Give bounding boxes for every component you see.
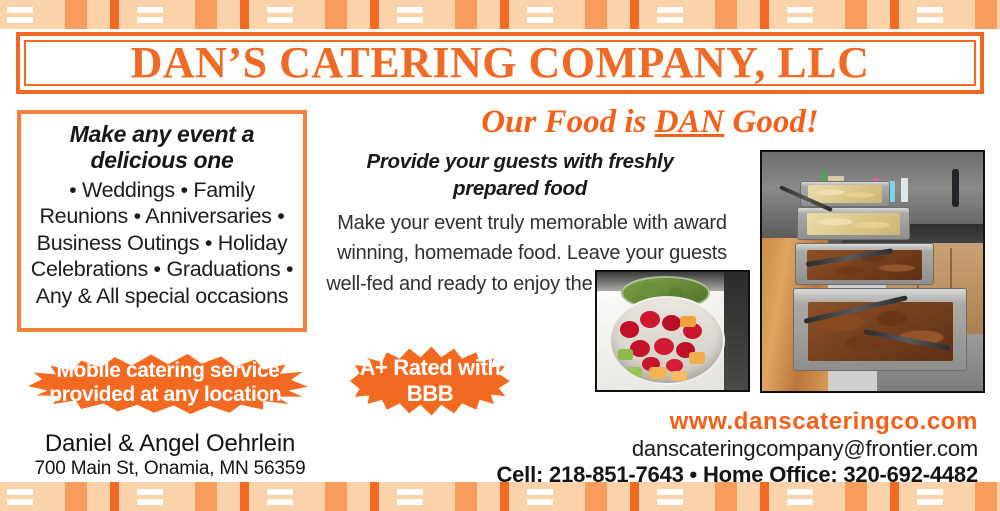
business-address: 700 Main St, Onamia, MN 56359	[20, 458, 320, 480]
stripe-dash	[787, 489, 813, 495]
stripe-dash	[917, 7, 943, 13]
services-box: Make any event a delicious one • Wedding…	[17, 110, 307, 332]
buffet-photo	[760, 150, 985, 393]
stripe-dash	[397, 499, 423, 505]
stripe-tile	[630, 482, 760, 511]
stripe-dash	[917, 489, 943, 495]
fruit-photo	[595, 270, 750, 392]
photo-strawberry	[630, 340, 650, 357]
photo-strawberry	[662, 315, 681, 331]
stripe-tile	[0, 482, 110, 511]
stripe-dash	[787, 499, 813, 505]
stripe-dash	[527, 489, 553, 495]
stripe-dash	[267, 7, 293, 13]
tagline-after: Good!	[724, 104, 818, 140]
stripe-bar	[630, 482, 639, 511]
stripe-block	[585, 0, 607, 29]
stripe-block	[65, 482, 87, 511]
stripe-dash	[7, 7, 33, 13]
stripe-block	[65, 0, 87, 29]
stripe-bar	[500, 0, 509, 29]
stripe-block	[975, 0, 997, 29]
stripe-block	[715, 0, 737, 29]
stripe-tile	[370, 0, 500, 29]
stripe-tile	[630, 0, 760, 29]
stripe-dash	[527, 7, 553, 13]
stripe-block	[585, 482, 607, 511]
stripe-block	[195, 0, 217, 29]
bottom-stripe-border	[0, 482, 1000, 511]
stripe-dash	[527, 17, 553, 23]
stripe-block	[455, 0, 477, 29]
stripe-dash	[7, 489, 33, 495]
stripe-dash	[397, 17, 423, 23]
stripe-dash	[787, 17, 813, 23]
stripe-dash	[137, 17, 163, 23]
photo-melon-cube	[671, 371, 687, 381]
stripe-block	[325, 0, 347, 29]
stripe-block	[975, 482, 997, 511]
photo-strawberry	[654, 338, 674, 355]
stripe-bar	[760, 0, 769, 29]
stripe-dash	[267, 489, 293, 495]
stripe-bar	[110, 482, 119, 511]
stripe-dash	[137, 489, 163, 495]
photo-chafing-pan	[797, 207, 910, 240]
photo-fruit-bowl	[609, 296, 725, 385]
stripe-dash	[657, 499, 683, 505]
stripe-bar	[370, 0, 379, 29]
stripe-tile	[500, 482, 630, 511]
stripe-tile	[890, 0, 1000, 29]
stripe-dash	[917, 499, 943, 505]
stripe-dash	[397, 489, 423, 495]
stripe-tile	[0, 0, 110, 29]
photo-melon-cube	[618, 349, 634, 361]
stripe-dash	[657, 489, 683, 495]
stripe-tile	[760, 482, 890, 511]
photo-food	[808, 185, 882, 202]
title-banner: DAN’S CATERING COMPANY, LLC	[16, 32, 984, 94]
photo-dark-edge	[724, 272, 748, 390]
stripe-dash	[657, 17, 683, 23]
stripe-bar	[240, 482, 249, 511]
top-stripe-border	[0, 0, 1000, 29]
catering-advertisement: DAN’S CATERING COMPANY, LLC Make any eve…	[0, 0, 1000, 511]
stripe-dash	[137, 7, 163, 13]
photo-melon-cube	[627, 367, 643, 378]
mobile-service-badge: Mobile catering service provided at any …	[28, 352, 308, 414]
stripe-dash	[7, 17, 33, 23]
stripe-tile	[370, 482, 500, 511]
stripe-tile	[890, 482, 1000, 511]
tagline-emphasis: DAN	[655, 104, 725, 140]
services-list: • Weddings • Family Reunions • Anniversa…	[28, 177, 296, 310]
tagline-before: Our Food is	[481, 104, 654, 140]
stripe-tile	[110, 0, 240, 29]
stripe-block	[195, 482, 217, 511]
stripe-block	[325, 482, 347, 511]
services-headline: Make any event a delicious one	[28, 122, 296, 174]
stripe-bar	[630, 0, 639, 29]
stripe-dash	[657, 7, 683, 13]
stripe-bar	[240, 0, 249, 29]
photo-strawberry	[620, 321, 639, 337]
stripe-bar	[370, 482, 379, 511]
stripe-tile	[110, 482, 240, 511]
photo-melon-cube	[689, 352, 705, 364]
stripe-dash	[787, 7, 813, 13]
stripe-bar	[110, 0, 119, 29]
photo-melon-cube	[649, 367, 667, 379]
stripe-tile	[240, 0, 370, 29]
stripe-bar	[890, 0, 899, 29]
photo-strawberry	[640, 311, 660, 328]
stripe-dash	[397, 7, 423, 13]
stripe-dash	[527, 499, 553, 505]
photo-food	[807, 213, 900, 235]
stripe-dash	[917, 17, 943, 23]
stripe-tile	[240, 482, 370, 511]
stripe-block	[845, 482, 867, 511]
subheadline: Provide your guests with freshly prepare…	[325, 148, 715, 202]
stripe-block	[715, 482, 737, 511]
tagline: Our Food is DAN Good!	[330, 104, 970, 141]
stripe-bar	[500, 482, 509, 511]
bbb-rating-badge: A+ Rated with BBB	[350, 345, 510, 417]
photo-bottle-item	[901, 178, 908, 202]
photo-faucet	[952, 169, 959, 207]
stripe-dash	[267, 17, 293, 23]
email-address[interactable]: danscateringcompany@frontier.com	[632, 436, 978, 462]
stripe-block	[455, 482, 477, 511]
page-title: DAN’S CATERING COMPANY, LLC	[131, 41, 870, 85]
stripe-bar	[760, 482, 769, 511]
owner-names: Daniel & Angel Oehrlein	[20, 430, 320, 458]
stripe-dash	[267, 499, 293, 505]
title-banner-inner-frame: DAN’S CATERING COMPANY, LLC	[24, 40, 976, 86]
stripe-block	[845, 0, 867, 29]
website-url[interactable]: www.danscateringco.com	[670, 408, 978, 436]
stripe-bar	[890, 482, 899, 511]
stripe-dash	[137, 499, 163, 505]
stripe-dash	[7, 499, 33, 505]
stripe-tile	[500, 0, 630, 29]
photo-melon-cube	[680, 316, 696, 327]
stripe-tile	[760, 0, 890, 29]
